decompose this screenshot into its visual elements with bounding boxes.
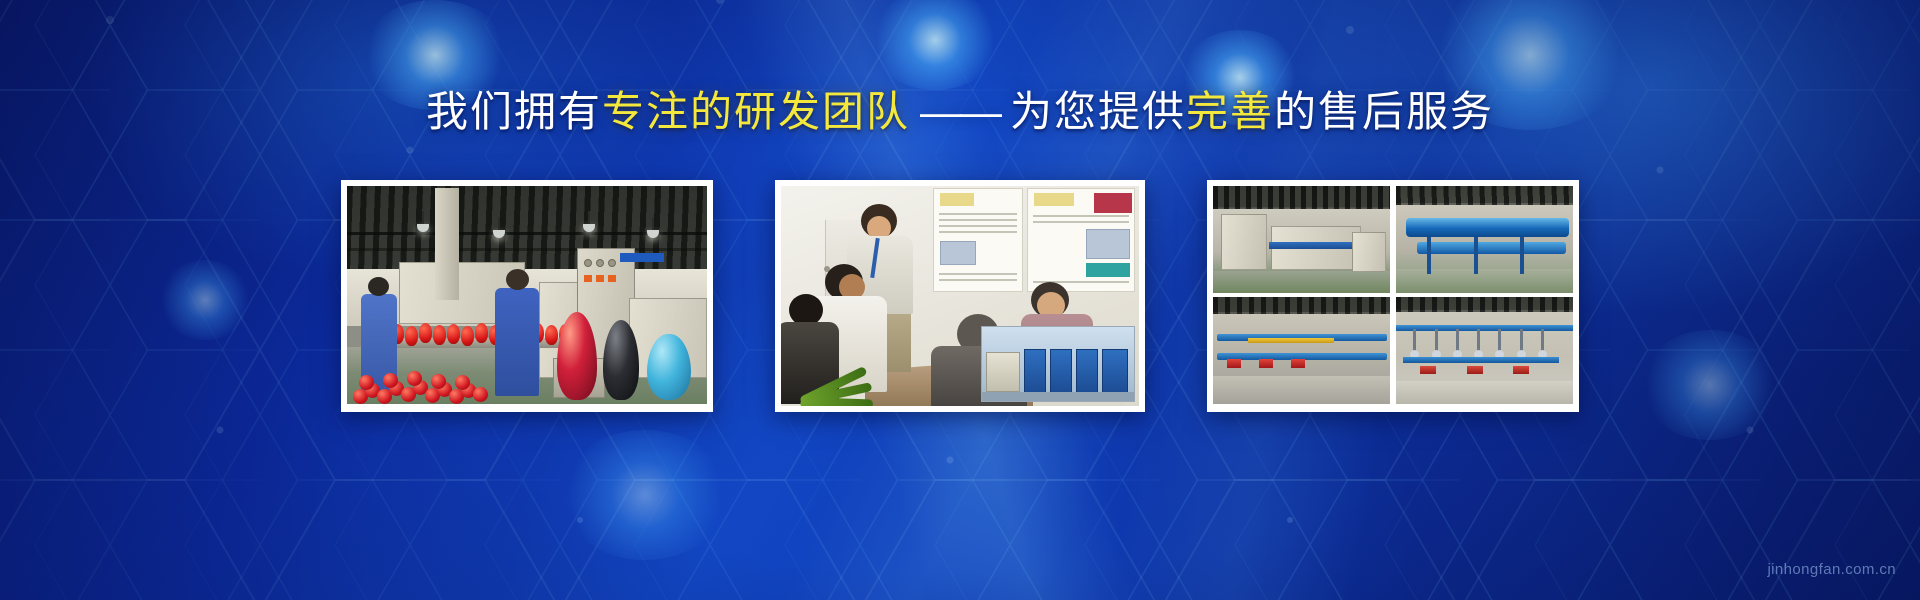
collage-quadrant-bottom-left: [1213, 297, 1390, 404]
photo-gallery: [0, 180, 1920, 412]
collage-quadrant-top-left: [1213, 186, 1390, 293]
headline-segment-6: 的售后服务: [1274, 88, 1494, 135]
poster-right: [1027, 188, 1135, 292]
headline-segment-4: 为您提供: [1010, 88, 1186, 135]
promo-banner: 我们拥有专注的研发团队——为您提供完善的售后服务: [0, 0, 1920, 600]
headline-segment-5: 完善: [1186, 88, 1274, 135]
page-title: 我们拥有专注的研发团队——为您提供完善的售后服务: [0, 78, 1920, 139]
headline-segment-2: 专注的研发团队: [602, 88, 910, 135]
poster-left: [933, 188, 1023, 292]
worker-figure-2: [495, 288, 539, 396]
glow-node-6: [560, 430, 730, 560]
collage-quadrant-bottom-right: [1396, 297, 1573, 404]
product-vase-red: [557, 312, 597, 400]
photo-team-meeting-discussion: [781, 186, 1139, 406]
headline-segment-dash: ——: [910, 88, 1010, 135]
red-product-pile: [353, 370, 493, 404]
site-watermark: jinhongfan.com.cn: [1767, 561, 1896, 578]
photo-workshop-equipment-collage: [1213, 186, 1573, 404]
foliage-decoration: [781, 332, 871, 406]
headline-segment-1: 我们拥有: [426, 88, 602, 135]
product-vases-overlay: [555, 292, 701, 400]
product-vase-black: [603, 320, 639, 400]
photo-card-workshop-collage[interactable]: [1207, 180, 1579, 412]
photo-card-team-meeting[interactable]: [775, 180, 1145, 412]
product-vase-blue: [647, 334, 691, 400]
machine-inset-photo: [981, 326, 1135, 402]
glow-node-2: [870, 0, 1000, 90]
photo-factory-production-line: [347, 186, 707, 404]
photo-card-factory-production-line[interactable]: [341, 180, 713, 412]
collage-quadrant-top-right: [1396, 186, 1573, 293]
